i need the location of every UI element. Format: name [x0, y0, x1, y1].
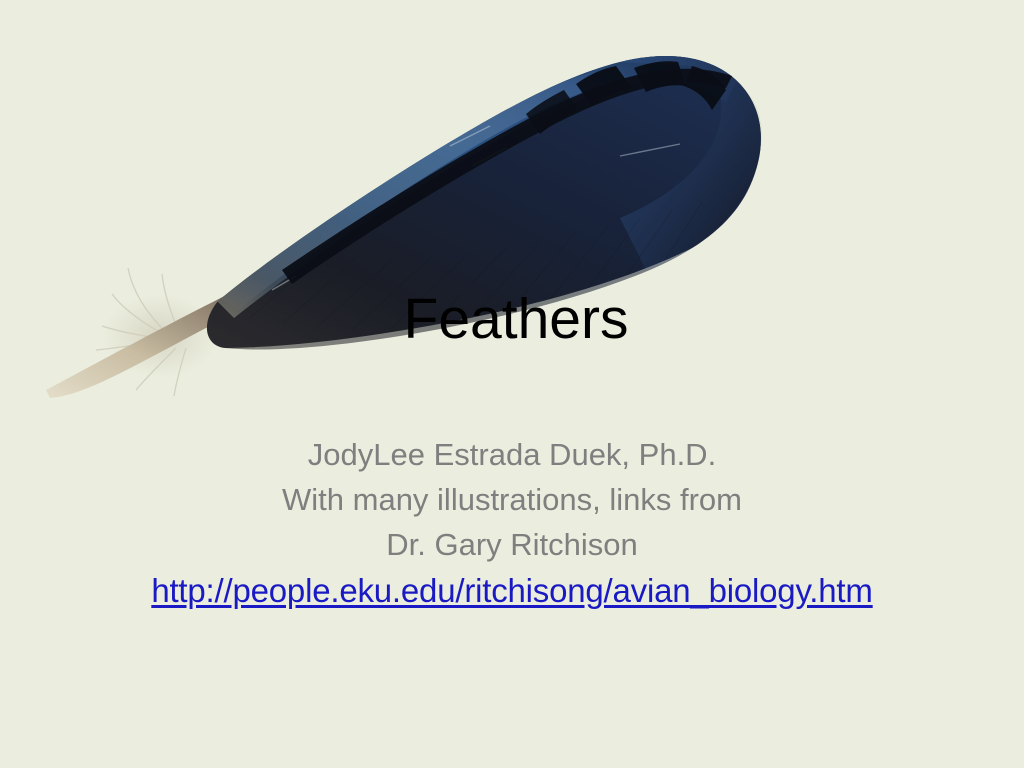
feather-rachis — [282, 69, 732, 284]
title-block: Feathers — [0, 287, 1024, 351]
subtitle-block: JodyLee Estrada Duek, Ph.D. With many il… — [0, 432, 1024, 614]
subtitle-line-author: JodyLee Estrada Duek, Ph.D. — [0, 432, 1024, 477]
subtitle-line-credits: With many illustrations, links from — [0, 477, 1024, 522]
feather-barring — [526, 61, 726, 134]
slide-canvas: Feathers JodyLee Estrada Duek, Ph.D. Wit… — [0, 0, 1024, 768]
subtitle-line-source: Dr. Gary Ritchison — [0, 522, 1024, 567]
page-title: Feathers — [404, 287, 629, 351]
source-url-link[interactable]: http://people.eku.edu/ritchisong/avian_b… — [151, 567, 872, 614]
